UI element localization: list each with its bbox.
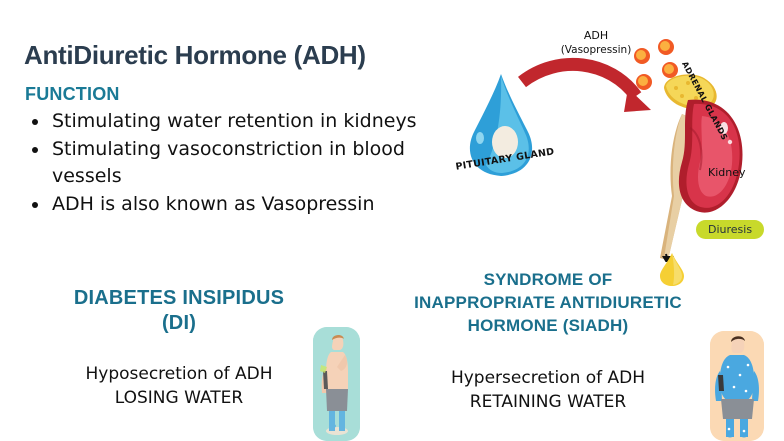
list-item: ADH is also known as Vasopressin <box>24 191 444 218</box>
di-body-line2: LOSING WATER <box>34 386 324 410</box>
bullet-text: Stimulating water retention in kidneys <box>52 110 417 132</box>
bullet-dot-icon <box>32 202 38 208</box>
siadh-heading-line3: HORMONE (SIADH) <box>398 314 698 337</box>
di-body-line1: Hyposecretion of ADH <box>34 362 324 386</box>
siadh-heading-line1: SYNDROME OF <box>398 268 698 291</box>
list-item: Stimulating vasoconstriction in blood ve… <box>24 136 444 190</box>
adh-pathway-diagram: ADH (Vasopressin) PITUITARY GLAND <box>440 14 784 284</box>
diuresis-badge: Diuresis <box>696 220 764 239</box>
bullet-dot-icon <box>32 119 38 125</box>
swollen-person-figure <box>710 331 764 441</box>
bullet-text: Stimulating vasoconstriction in blood ve… <box>52 138 405 187</box>
di-heading-line1: DIABETES INSIPIDUS <box>34 286 324 311</box>
infographic-canvas: AntiDiuretic Hormone (ADH) FUNCTION Stim… <box>0 0 784 441</box>
list-item: Stimulating water retention in kidneys <box>24 108 444 135</box>
siadh-body-line1: Hypersecretion of ADH <box>398 366 698 390</box>
siadh-heading: SYNDROME OF INAPPROPRIATE ANTIDIURETIC H… <box>398 268 698 337</box>
bullet-dot-icon <box>32 147 38 153</box>
di-body: Hyposecretion of ADH LOSING WATER <box>34 362 324 410</box>
siadh-heading-line2: INAPPROPRIATE ANTIDIURETIC <box>398 291 698 314</box>
di-heading-line2: (DI) <box>34 311 324 336</box>
page-title: AntiDiuretic Hormone (ADH) <box>24 40 366 71</box>
siadh-body-line2: RETAINING WATER <box>398 390 698 414</box>
di-heading: DIABETES INSIPIDUS (DI) <box>34 286 324 336</box>
dehydrated-person-figure <box>313 327 360 441</box>
function-bullet-list: Stimulating water retention in kidneys S… <box>24 108 444 219</box>
bullet-text: ADH is also known as Vasopressin <box>52 193 374 215</box>
function-section-label: FUNCTION <box>25 84 120 105</box>
kidney-label: Kidney <box>708 166 746 179</box>
siadh-body: Hypersecretion of ADH RETAINING WATER <box>398 366 698 414</box>
